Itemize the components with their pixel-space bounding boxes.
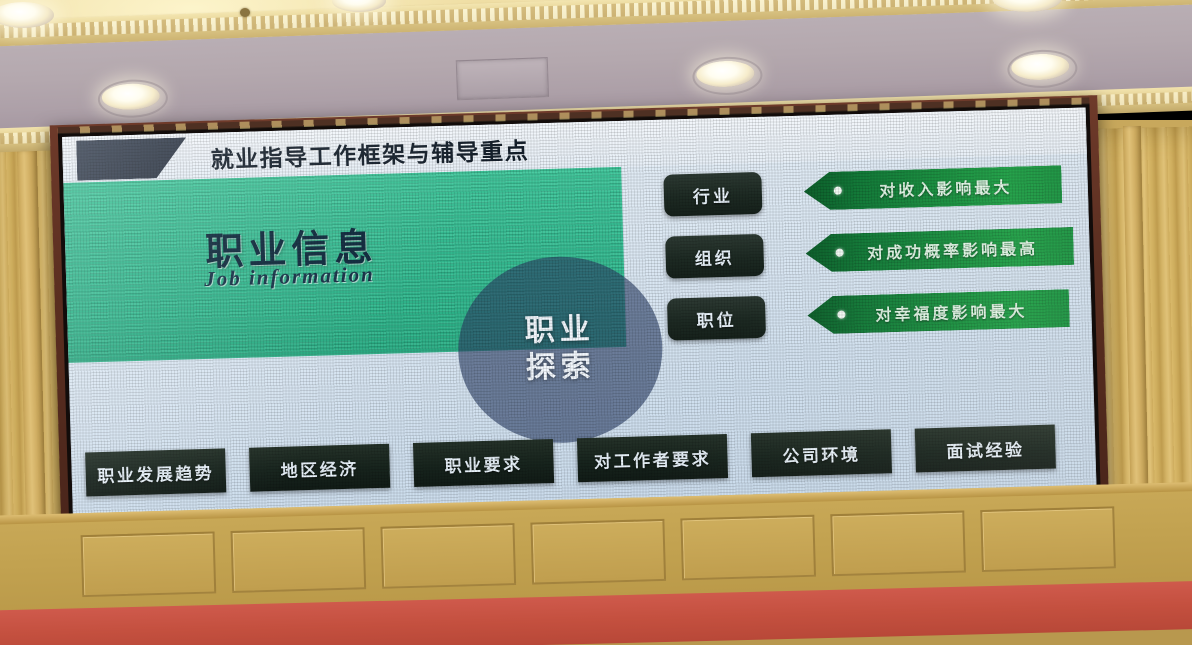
key-box-organization-label: 组织 bbox=[694, 243, 735, 269]
key-box-industry-label: 行业 bbox=[693, 181, 734, 207]
conference-room-photo: 就业指导工作框架与辅导重点 职业信息 Job information 职业 探索… bbox=[0, 0, 1192, 645]
banner-industry[interactable]: 对收入影响最大 bbox=[803, 165, 1062, 210]
bottom-box-interview-experience[interactable]: 面试经验 bbox=[915, 425, 1056, 473]
bottom-box-worker-requirements[interactable]: 对工作者要求 bbox=[577, 434, 728, 482]
hero-subheading: Job information bbox=[204, 262, 375, 292]
ceiling-smoke-detector bbox=[240, 8, 250, 17]
downlight-2-ring bbox=[97, 78, 168, 118]
banner-organization[interactable]: 对成功概率影响最高 bbox=[805, 227, 1074, 273]
bottom-box-regional-economy-label: 地区经济 bbox=[280, 454, 359, 481]
ceiling-vent-panel bbox=[456, 57, 549, 100]
banner-industry-label: 对收入影响最大 bbox=[804, 172, 1063, 203]
key-box-industry[interactable]: 行业 bbox=[663, 172, 762, 217]
banner-position[interactable]: 对幸福度影响最大 bbox=[807, 289, 1070, 335]
wainscot-panel bbox=[530, 519, 666, 585]
bottom-box-career-trend[interactable]: 职业发展趋势 bbox=[85, 448, 226, 496]
bottom-box-job-requirements-label: 职业要求 bbox=[444, 449, 523, 476]
downlight-4-ring bbox=[692, 56, 763, 96]
bottom-box-regional-economy[interactable]: 地区经济 bbox=[249, 444, 390, 492]
wainscot-panel bbox=[81, 531, 217, 597]
wainscot-panel bbox=[380, 523, 516, 589]
downlight-5-ring bbox=[1007, 49, 1078, 89]
center-circle-line2: 探索 bbox=[525, 349, 596, 388]
wainscot-panel bbox=[680, 515, 816, 581]
key-box-position-label: 职位 bbox=[696, 305, 737, 331]
bottom-box-company-environment-label: 公司环境 bbox=[782, 440, 861, 467]
title-accent-shape bbox=[76, 137, 187, 180]
center-circle-line1: 职业 bbox=[524, 312, 595, 351]
slide-title: 就业指导工作框架与辅导重点 bbox=[210, 132, 529, 175]
bottom-box-interview-experience-label: 面试经验 bbox=[946, 435, 1025, 462]
bottom-box-job-requirements[interactable]: 职业要求 bbox=[413, 439, 554, 487]
bottom-box-company-environment[interactable]: 公司环境 bbox=[751, 429, 892, 477]
wainscot-panel bbox=[231, 527, 367, 593]
banner-organization-label: 对成功概率影响最高 bbox=[805, 234, 1074, 266]
wainscot-panel bbox=[830, 511, 966, 577]
key-box-organization[interactable]: 组织 bbox=[665, 234, 764, 279]
banner-position-label: 对幸福度影响最大 bbox=[807, 296, 1070, 328]
key-box-position[interactable]: 职位 bbox=[667, 296, 766, 341]
center-circle-label: 职业 探索 bbox=[456, 254, 665, 446]
wainscot-panel bbox=[980, 506, 1116, 572]
bottom-box-career-trend-label: 职业发展趋势 bbox=[97, 458, 215, 486]
bottom-box-worker-requirements-label: 对工作者要求 bbox=[594, 444, 712, 472]
